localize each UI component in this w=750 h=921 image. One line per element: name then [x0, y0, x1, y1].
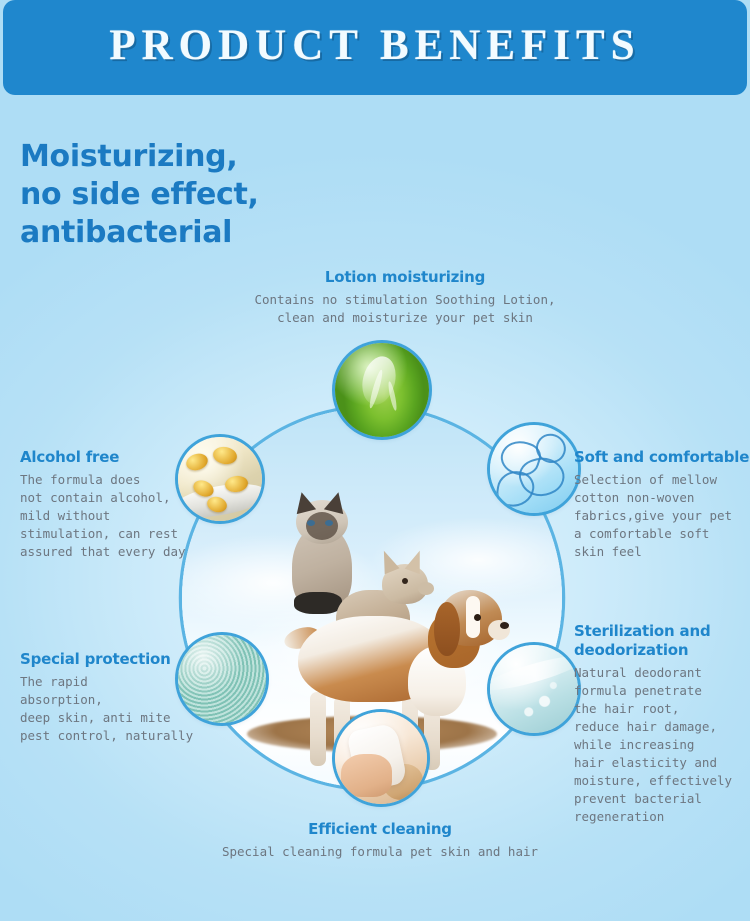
benefit-body: The formula does not contain alcohol, mi… [20, 471, 235, 561]
benefit-body: Selection of mellow cotton non-woven fab… [574, 471, 750, 561]
benefit-title: Special protection [20, 650, 235, 669]
header-banner: PRODUCT BENEFITS [3, 0, 747, 95]
benefit-sterilization-and-deodorization: Sterilization and deodorization Natural … [574, 622, 750, 826]
benefit-alcohol-free: Alcohol free The formula does not contai… [20, 448, 235, 561]
banner-notch [328, 84, 422, 108]
benefit-special-protection: Special protection The rapid absorption,… [20, 650, 235, 745]
benefit-title: Lotion moisturizing [195, 268, 615, 287]
water-gel-icon [490, 645, 578, 733]
benefit-title: Alcohol free [20, 448, 235, 467]
benefit-body: The rapid absorption, deep skin, anti mi… [20, 673, 235, 745]
benefit-title: Soft and comfortable [574, 448, 750, 467]
benefit-body: Contains no stimulation Soothing Lotion,… [195, 291, 615, 327]
nonwoven-fiber-icon [490, 425, 578, 513]
aloe-leaf-icon [335, 343, 429, 437]
headline: Moisturizing, no side effect, antibacter… [20, 138, 259, 252]
hand-wiping-paw-icon [335, 712, 427, 804]
headline-line-3: antibacterial [20, 214, 259, 252]
headline-line-2: no side effect, [20, 176, 259, 214]
benefit-body: Natural deodorant formula penetrate the … [574, 664, 750, 826]
benefit-soft-and-comfortable: Soft and comfortable Selection of mellow… [574, 448, 750, 561]
headline-line-1: Moisturizing, [20, 138, 259, 176]
benefit-title: Sterilization and deodorization [574, 622, 750, 660]
infographic-page: PRODUCT BENEFITS Moisturizing, no side e… [0, 0, 750, 921]
benefit-efficient-cleaning: Efficient cleaning Special cleaning form… [170, 820, 590, 861]
benefit-body: Special cleaning formula pet skin and ha… [170, 843, 590, 861]
benefit-title: Efficient cleaning [170, 820, 590, 839]
page-title: PRODUCT BENEFITS [3, 21, 747, 70]
benefit-lotion-moisturizing: Lotion moisturizing Contains no stimulat… [195, 268, 615, 327]
